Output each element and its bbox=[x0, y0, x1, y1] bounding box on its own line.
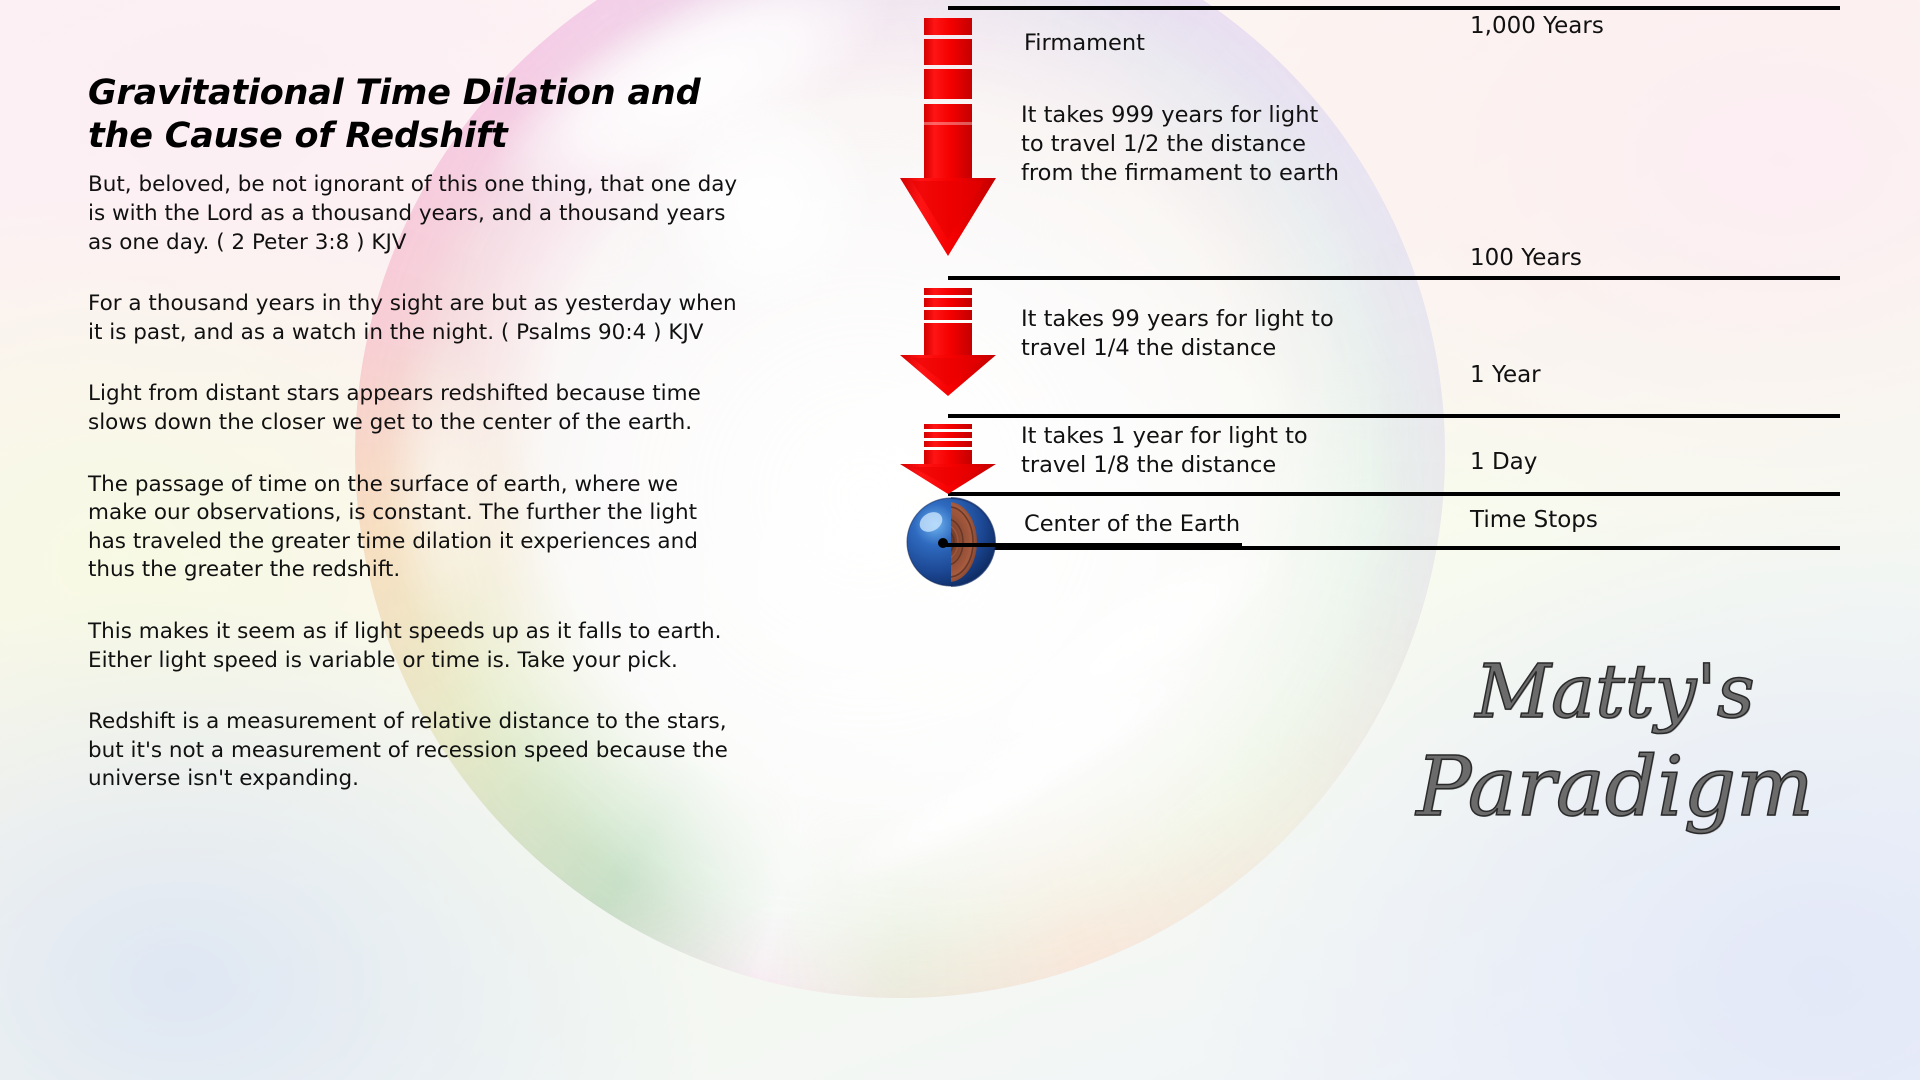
earth-core-pointer-line bbox=[942, 543, 1242, 547]
time-label-1-year: 1 Year bbox=[1470, 362, 1541, 388]
light-travel-arrow-3 bbox=[896, 424, 1000, 496]
light-speed-paragraph: This makes it seem as if light speeds up… bbox=[88, 618, 738, 675]
time-label-100-years: 100 Years bbox=[1470, 245, 1582, 271]
layer-description-999-years: It takes 999 years for light to travel 1… bbox=[1021, 101, 1339, 187]
earth-core-pointer-dot bbox=[938, 538, 948, 548]
earth-cutaway-graphic bbox=[905, 496, 997, 588]
layer-label-center-of-earth: Center of the Earth bbox=[1024, 510, 1240, 539]
earth-icon bbox=[905, 496, 997, 588]
scripture-paragraph-psalms: For a thousand years in thy sight are bu… bbox=[88, 290, 738, 347]
time-label-1-day: 1 Day bbox=[1470, 449, 1537, 475]
redshift-explanation-paragraph: Light from distant stars appears redshif… bbox=[88, 380, 738, 437]
down-arrow-icon bbox=[896, 288, 1000, 400]
layer-label-firmament: Firmament bbox=[1024, 29, 1145, 58]
light-travel-arrow-2 bbox=[896, 288, 1000, 400]
recession-speed-paragraph: Redshift is a measurement of relative di… bbox=[88, 708, 738, 794]
infographic-canvas: Gravitational Time Dilation and the Caus… bbox=[0, 0, 1920, 1080]
brand-logo-line-1: Matty's bbox=[1415, 655, 1815, 729]
brand-logo: Matty's Paradigm bbox=[1415, 655, 1815, 829]
scripture-paragraph-2-peter: But, beloved, be not ignorant of this on… bbox=[88, 171, 738, 257]
rule-1-day bbox=[948, 492, 1840, 496]
rule-100-years bbox=[948, 276, 1840, 280]
rule-1-year bbox=[948, 414, 1840, 418]
light-travel-arrow-1 bbox=[896, 18, 1000, 262]
down-arrow-icon bbox=[896, 18, 1000, 262]
layer-description-1-year: It takes 1 year for light to travel 1/8 … bbox=[1021, 422, 1308, 480]
layer-description-99-years: It takes 99 years for light to travel 1/… bbox=[1021, 305, 1334, 363]
page-title: Gravitational Time Dilation and the Caus… bbox=[88, 72, 728, 157]
time-label-time-stops: Time Stops bbox=[1470, 507, 1598, 533]
time-label-1000-years: 1,000 Years bbox=[1470, 13, 1604, 39]
time-dilation-paragraph: The passage of time on the surface of ea… bbox=[88, 471, 738, 585]
down-arrow-icon bbox=[896, 424, 1000, 496]
article-text-column: Gravitational Time Dilation and the Caus… bbox=[88, 72, 748, 794]
rule-firmament bbox=[948, 6, 1840, 10]
brand-logo-line-2: Paradigm bbox=[1415, 747, 1815, 829]
